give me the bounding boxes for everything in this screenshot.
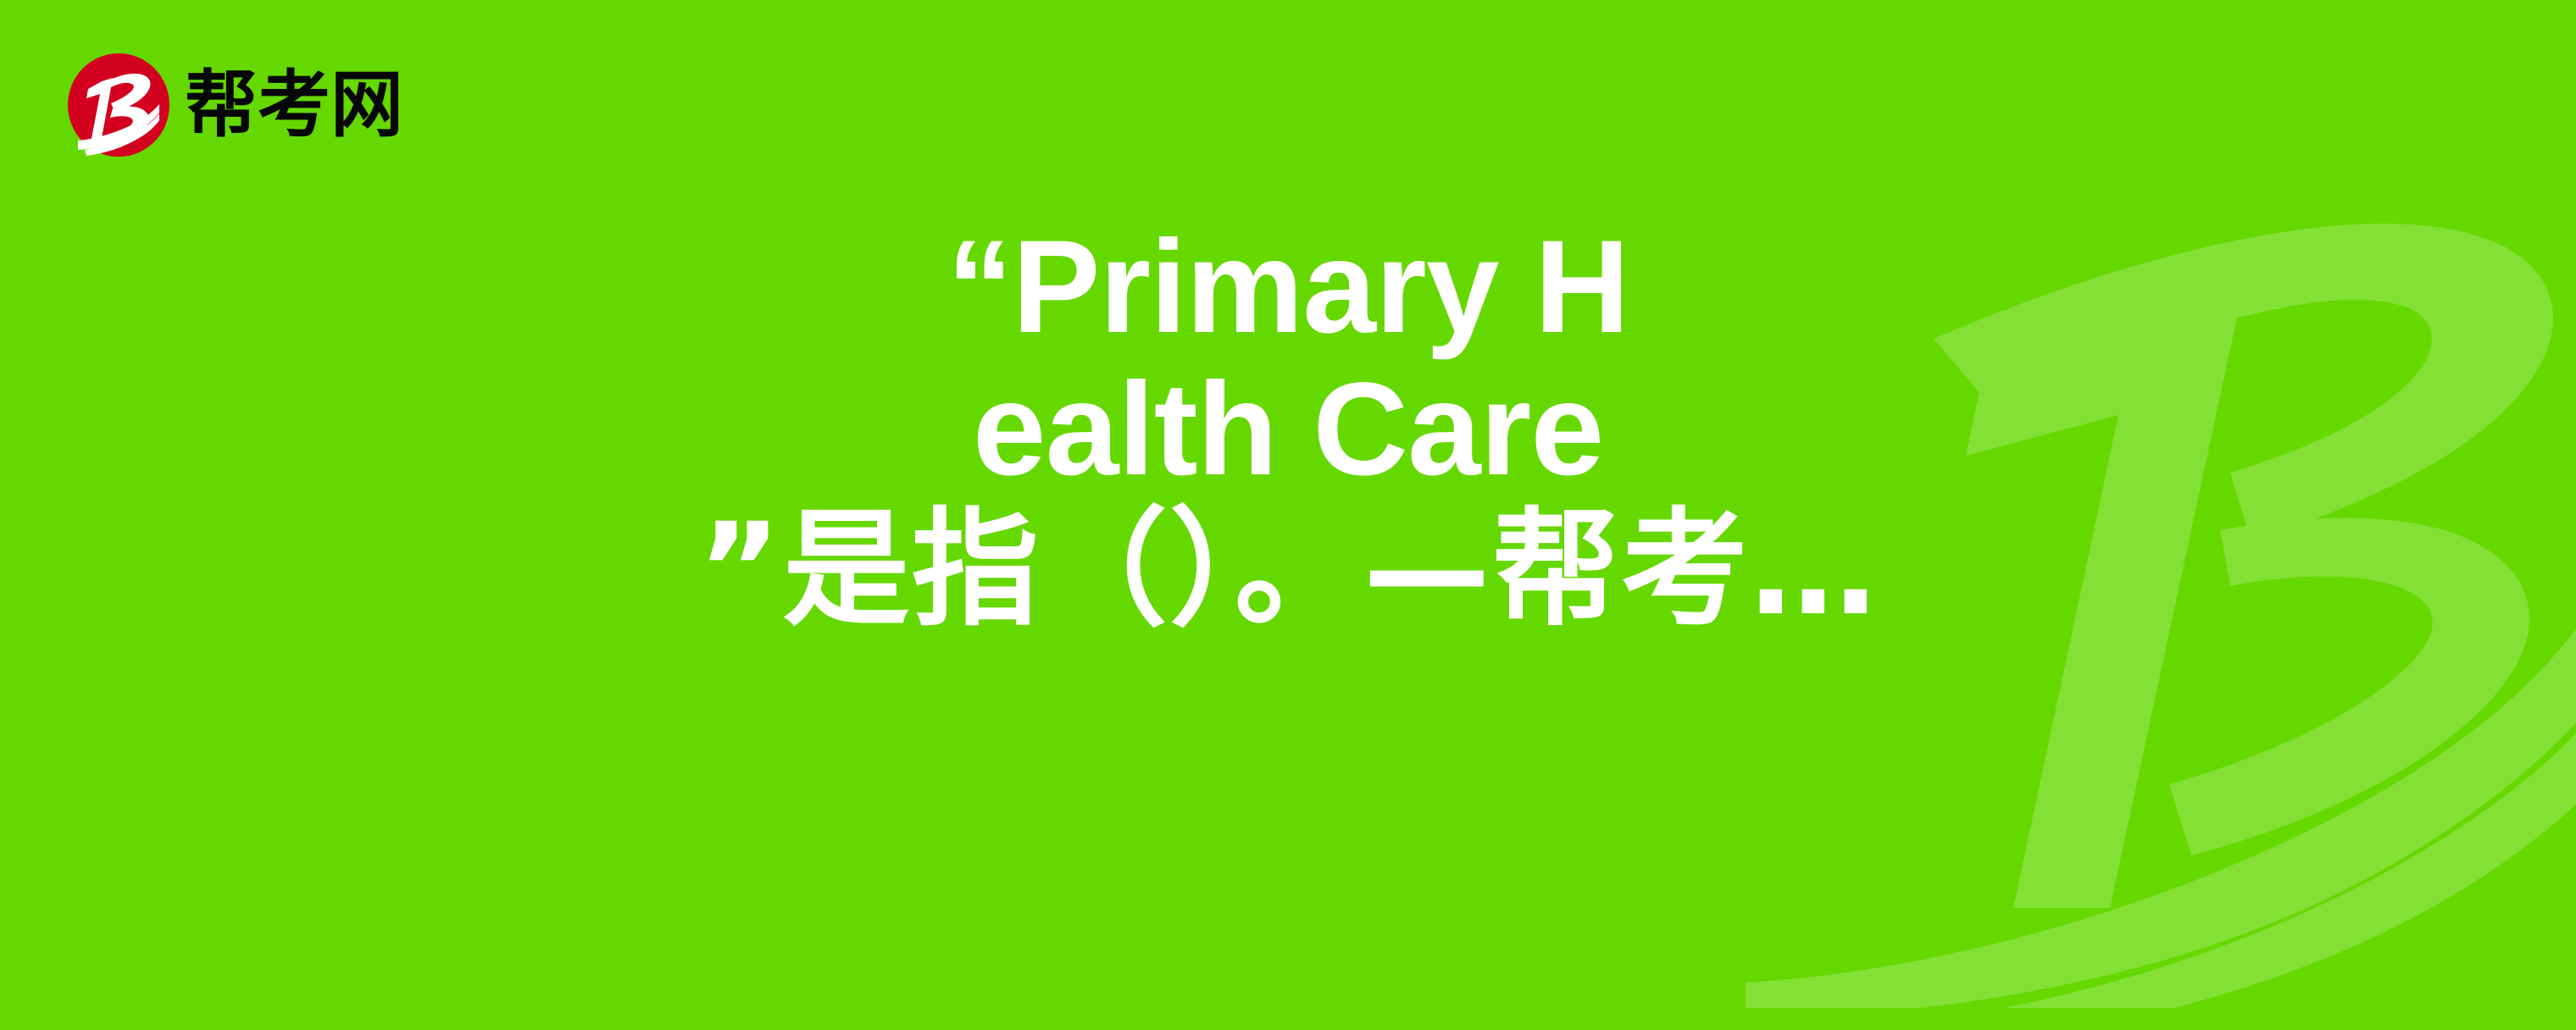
page-title-line-3: ”是指（）。—帮考… (364, 501, 2212, 639)
page-title-line-2: ealth Care (364, 358, 2212, 501)
page-title: “Primary H ealth Care ”是指（）。—帮考… (0, 216, 2576, 639)
page-title-line-1: “Primary H (364, 216, 2212, 358)
share-card: 帮考网 “Primary H ealth Care ”是指（）。—帮考… (0, 0, 2576, 1030)
bangkao-b-logo-icon (66, 53, 171, 158)
brand-name: 帮考网 (185, 69, 403, 141)
brand-logo: 帮考网 (66, 53, 403, 158)
